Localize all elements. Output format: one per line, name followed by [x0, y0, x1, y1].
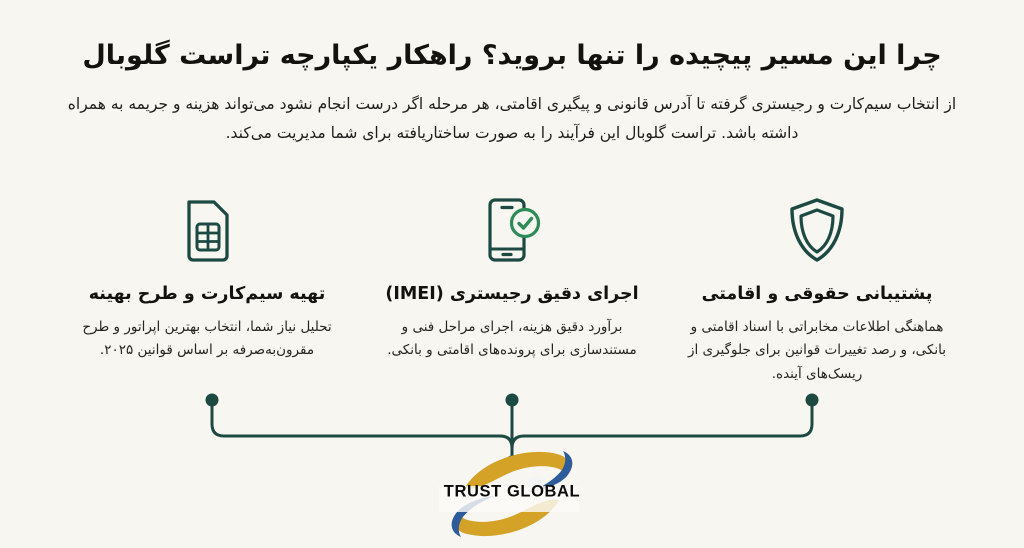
feature-card-title: تهیه سیم‌کارت و طرح بهینه [89, 282, 326, 307]
trust-global-logo: TRUST GLOBAL [417, 438, 607, 546]
phone-check-icon [481, 196, 543, 264]
connector-left-branch [212, 400, 500, 436]
connector-node-left [206, 394, 219, 407]
feature-card-description: هماهنگی اطلاعات مخابراتی با اسناد اقامتی… [672, 316, 962, 387]
connector-node-center [506, 394, 519, 407]
logo-wordmark: TRUST GLOBAL [444, 483, 580, 502]
page-subtitle: از انتخاب سیم‌کارت و رجیستری گرفته تا آد… [0, 90, 1024, 147]
feature-card-description: تحلیل نیاز شما، انتخاب بهترین اپراتور و … [62, 316, 352, 363]
connector-node-right [806, 394, 819, 407]
feature-cards-row: پشتیبانی حقوقی و اقامتی هماهنگی اطلاعات … [0, 196, 1024, 386]
feature-card-imei-registry: اجرای دقیق رجیستری (IMEI) برآورد دقیق هز… [367, 196, 657, 386]
feature-card-title: اجرای دقیق رجیستری (IMEI) [385, 282, 638, 307]
connector-right-branch [524, 400, 812, 436]
page-title: چرا این مسیر پیچیده را تنها بروید؟ راهکا… [0, 38, 1024, 74]
feature-card-description: برآورد دقیق هزینه، اجرای مراحل فنی و مست… [367, 316, 657, 363]
feature-card-legal-support: پشتیبانی حقوقی و اقامتی هماهنگی اطلاعات … [672, 196, 962, 386]
infographic-page: چرا این مسیر پیچیده را تنها بروید؟ راهکا… [0, 0, 1024, 548]
feature-card-sim-plan: تهیه سیم‌کارت و طرح بهینه تحلیل نیاز شما… [62, 196, 352, 386]
sim-card-icon [176, 196, 238, 264]
feature-card-title: پشتیبانی حقوقی و اقامتی [702, 282, 933, 307]
shield-icon [786, 196, 848, 264]
header-block: چرا این مسیر پیچیده را تنها بروید؟ راهکا… [0, 38, 1024, 148]
